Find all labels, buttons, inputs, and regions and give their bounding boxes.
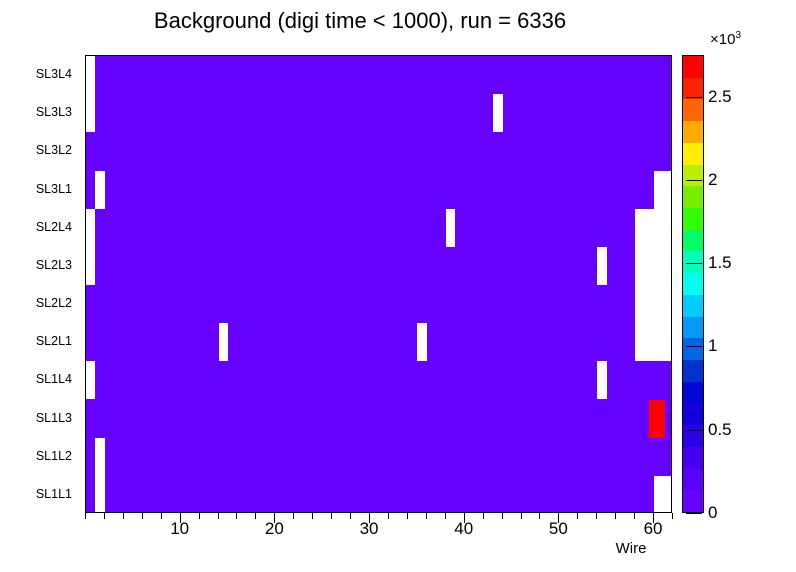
x-axis-minor-tick [426, 513, 427, 519]
x-axis-title: Wire [616, 540, 647, 557]
colorbar[interactable] [682, 55, 704, 513]
colorbar-band [683, 382, 703, 404]
x-axis-minor-tick [312, 513, 313, 519]
x-axis-minor-tick [142, 513, 143, 519]
page-title: Background (digi time < 1000), run = 633… [0, 8, 720, 34]
x-axis-minor-tick [596, 513, 597, 519]
x-axis-minor-tick [350, 513, 351, 519]
colorbar-band [683, 186, 703, 208]
x-axis-tick-label: 50 [549, 519, 568, 539]
y-axis-tick-label: SL1L3 [36, 411, 72, 425]
x-axis-minor-tick [521, 513, 522, 519]
x-axis-minor-tick [85, 513, 86, 519]
x-axis-minor-tick [236, 513, 237, 519]
x-axis-minor-tick [104, 513, 105, 519]
x-axis-minor-tick [577, 513, 578, 519]
heatmap-empty-cell[interactable] [635, 285, 672, 323]
x-axis-minor-tick [502, 513, 503, 519]
y-axis-tick-label: SL1L4 [36, 372, 72, 386]
colorbar-tick-mark [686, 346, 702, 347]
x-axis-minor-tick [293, 513, 294, 519]
x-axis-tick-label: 20 [265, 519, 284, 539]
heatmap-hot-cell[interactable] [649, 400, 665, 438]
colorbar-multiplier-exponent: 3 [735, 30, 741, 41]
heatmap-empty-cell[interactable] [635, 323, 672, 361]
x-axis-tick-label: 40 [454, 519, 473, 539]
colorbar-band [683, 490, 703, 512]
x-axis-minor-tick [331, 513, 332, 519]
y-axis-tick-label: SL2L3 [36, 258, 72, 272]
heatmap-empty-cell[interactable] [597, 361, 606, 399]
colorbar-tick-label: 2.5 [708, 87, 732, 107]
colorbar-tick-mark [686, 513, 702, 514]
colorbar-tick-mark [686, 263, 702, 264]
heatmap-empty-cell[interactable] [597, 247, 606, 285]
colorbar-band [683, 338, 703, 360]
colorbar-band [683, 208, 703, 230]
x-axis-minor-tick [123, 513, 124, 519]
heatmap-empty-cell[interactable] [95, 171, 104, 209]
colorbar-multiplier-base: ×10 [710, 31, 735, 48]
colorbar-band [683, 447, 703, 469]
colorbar-tick-label: 0.5 [708, 420, 732, 440]
colorbar-tick-label: 1.5 [708, 253, 732, 273]
x-axis-tick-label: 60 [644, 519, 663, 539]
x-axis-minor-tick [672, 513, 673, 519]
heatmap-empty-cell[interactable] [95, 438, 104, 476]
heatmap-empty-cell[interactable] [446, 209, 455, 247]
x-axis-minor-tick [539, 513, 540, 519]
y-axis-tick-label: SL2L4 [36, 220, 72, 234]
colorbar-band [683, 230, 703, 252]
y-axis-labels: SL1L1SL1L2SL1L3SL1L4SL2L1SL2L2SL2L3SL2L4… [0, 55, 80, 513]
heatmap-plot-area[interactable] [85, 55, 672, 513]
heatmap-empty-cell[interactable] [493, 94, 502, 132]
colorbar-tick-label: 2 [708, 170, 717, 190]
y-axis-tick-label: SL1L1 [36, 487, 72, 501]
heatmap-empty-cell[interactable] [417, 323, 426, 361]
x-axis-minor-tick [445, 513, 446, 519]
x-axis-tick-label: 10 [170, 519, 189, 539]
colorbar-band [683, 317, 703, 339]
colorbar-band [683, 273, 703, 295]
x-axis-minor-tick [407, 513, 408, 519]
colorbar-band [683, 56, 703, 78]
heatmap-empty-cell[interactable] [86, 209, 95, 247]
colorbar-multiplier: ×103 [710, 30, 741, 48]
colorbar-band [683, 143, 703, 165]
heatmap-background-fill [86, 56, 671, 512]
root-canvas: Background (digi time < 1000), run = 633… [0, 0, 796, 572]
y-axis-tick-label: SL3L1 [36, 182, 72, 196]
colorbar-band [683, 469, 703, 491]
y-axis-tick-label: SL3L3 [36, 105, 72, 119]
heatmap-empty-cell[interactable] [654, 171, 672, 209]
heatmap-empty-cell[interactable] [86, 361, 95, 399]
heatmap-empty-cell[interactable] [86, 247, 95, 285]
heatmap-empty-cell[interactable] [635, 247, 672, 285]
y-axis-tick-label: SL3L2 [36, 143, 72, 157]
heatmap-empty-cell[interactable] [635, 209, 672, 247]
colorbar-band [683, 403, 703, 425]
x-axis-minor-tick [634, 513, 635, 519]
colorbar-band [683, 295, 703, 317]
colorbar-band [683, 99, 703, 121]
x-axis-minor-tick [161, 513, 162, 519]
colorbar-tick-mark [686, 180, 702, 181]
x-axis-minor-tick [199, 513, 200, 519]
x-axis-tick-label: 30 [360, 519, 379, 539]
colorbar-tick-mark [686, 430, 702, 431]
x-axis-minor-tick [615, 513, 616, 519]
heatmap-empty-cell[interactable] [95, 476, 104, 513]
y-axis-tick-label: SL2L1 [36, 334, 72, 348]
colorbar-tick-label: 0 [708, 503, 717, 523]
heatmap-empty-cell[interactable] [86, 56, 95, 94]
heatmap-empty-cell[interactable] [219, 323, 228, 361]
heatmap-empty-cell[interactable] [86, 94, 95, 132]
y-axis-tick-label: SL2L2 [36, 296, 72, 310]
colorbar-band [683, 165, 703, 187]
x-axis-minor-tick [255, 513, 256, 519]
x-axis-minor-tick [483, 513, 484, 519]
y-axis-tick-label: SL3L4 [36, 67, 72, 81]
x-axis-minor-tick [218, 513, 219, 519]
x-axis-minor-tick [388, 513, 389, 519]
colorbar-band [683, 360, 703, 382]
colorbar-band [683, 425, 703, 447]
colorbar-tick-label: 1 [708, 336, 717, 356]
colorbar-tick-mark [686, 97, 702, 98]
heatmap-empty-cell[interactable] [654, 476, 672, 513]
colorbar-band [683, 121, 703, 143]
y-axis-tick-label: SL1L2 [36, 449, 72, 463]
